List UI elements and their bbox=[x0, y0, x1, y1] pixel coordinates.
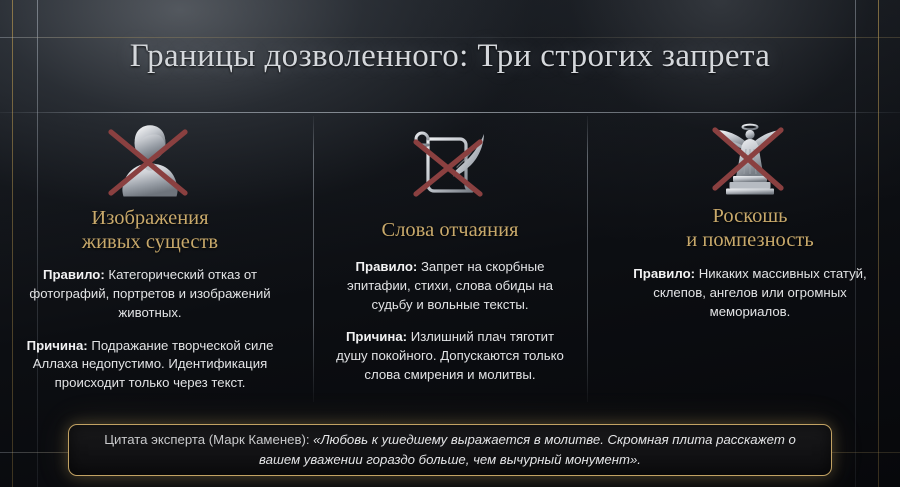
quote-prefix: Цитата эксперта (Марк Каменев): bbox=[104, 432, 313, 447]
column-luxury-and-pomp: Роскошь и помпезность Правило: Никаких м… bbox=[600, 114, 900, 404]
reason-paragraph: Причина: Излишний плач тяготит душу поко… bbox=[333, 328, 567, 384]
column-heading-line-2: и помпезность bbox=[686, 229, 813, 251]
page-title: Границы дозволенного: Три строгих запрет… bbox=[130, 38, 771, 75]
reason-label: Причина: bbox=[346, 329, 407, 344]
reason-label: Причина: bbox=[27, 338, 88, 353]
rule-paragraph: Правило: Никаких массивных статуй, склеп… bbox=[627, 265, 873, 321]
red-cross-out-icon bbox=[702, 116, 794, 200]
columns-container: Изображения живых существ Правило: Катег… bbox=[0, 114, 900, 404]
rule-paragraph: Правило: Категорический отказ от фотогра… bbox=[21, 266, 279, 322]
rule-label: Правило: bbox=[633, 266, 695, 281]
rule-paragraph: Правило: Запрет на скорбные эпитафии, ст… bbox=[333, 258, 567, 314]
reason-paragraph: Причина: Подражание творческой силе Алла… bbox=[21, 337, 279, 393]
red-cross-out-icon bbox=[102, 120, 194, 204]
column-heading-line-1: Изображения bbox=[91, 207, 208, 229]
angel-statue-forbidden-icon bbox=[702, 116, 798, 202]
column-heading: Изображения живых существ bbox=[82, 206, 218, 254]
column-images-of-living-beings: Изображения живых существ Правило: Катег… bbox=[0, 114, 300, 404]
header-band: Границы дозволенного: Три строгих запрет… bbox=[0, 0, 900, 112]
expert-quote-box: Цитата эксперта (Марк Каменев): «Любовь … bbox=[68, 424, 832, 476]
red-cross-out-icon bbox=[402, 124, 494, 208]
column-heading: Роскошь и помпезность bbox=[686, 204, 813, 252]
header-divider bbox=[0, 112, 900, 113]
column-heading: Слова отчаяния bbox=[382, 218, 519, 242]
column-words-of-despair: Слова отчаяния Правило: Запрет на скорбн… bbox=[300, 114, 600, 404]
column-heading-line-2: живых существ bbox=[82, 231, 218, 253]
scroll-quill-forbidden-icon bbox=[402, 124, 498, 210]
portrait-forbidden-icon bbox=[102, 120, 198, 204]
slide-root: Границы дозволенного: Три строгих запрет… bbox=[0, 0, 900, 487]
expert-quote-text: Цитата эксперта (Марк Каменев): «Любовь … bbox=[93, 430, 807, 470]
rule-label: Правило: bbox=[356, 259, 418, 274]
quote-body: «Любовь к ушедшему выражается в молитве.… bbox=[259, 432, 796, 467]
rule-label: Правило: bbox=[43, 267, 105, 282]
column-heading-line-1: Роскошь bbox=[712, 205, 787, 227]
